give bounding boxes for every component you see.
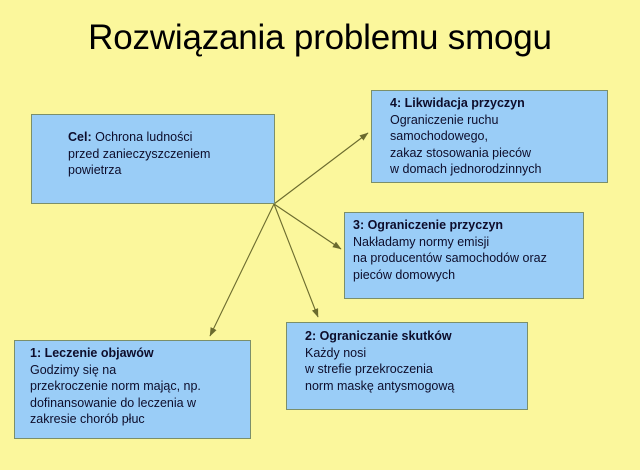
step-3-box[interactable]: 3: Ograniczenie przyczyn Nakładamy normy…: [344, 212, 584, 299]
goal-box-line-3: powietrza: [68, 162, 267, 179]
goal-box-line-2: przed zanieczyszczeniem: [68, 146, 267, 163]
step-2-line-2: w strefie przekroczenia: [305, 361, 520, 378]
step-2-heading: 2: Ograniczanie skutków: [305, 328, 520, 345]
arrow-to-box-2: [274, 204, 318, 317]
step-3-line-1: Nakładamy normy emisji: [353, 234, 576, 251]
step-4-line-2: samochodowego,: [390, 128, 600, 145]
step-4-content: 4: Likwidacja przyczyn Ograniczenie ruch…: [372, 91, 607, 182]
step-3-line-3: pieców domowych: [353, 267, 576, 284]
arrow-to-box-4: [274, 133, 368, 204]
slide-canvas: Rozwiązania problemu smogu Cel: Ochrona …: [0, 0, 640, 470]
page-title: Rozwiązania problemu smogu: [0, 18, 640, 58]
goal-box-content: Cel: Ochrona ludności przed zanieczyszcz…: [32, 115, 274, 183]
step-3-heading: 3: Ograniczenie przyczyn: [353, 217, 576, 234]
step-4-line-1: Ograniczenie ruchu: [390, 112, 600, 129]
step-2-box[interactable]: 2: Ograniczanie skutków Każdy nosi w str…: [286, 322, 528, 410]
step-1-line-1: Godzimy się na: [30, 362, 243, 379]
step-1-box[interactable]: 1: Leczenie objawów Godzimy się na przek…: [14, 340, 251, 439]
step-4-line-3: zakaz stosowania pieców: [390, 145, 600, 162]
step-4-heading: 4: Likwidacja przyczyn: [390, 95, 600, 112]
step-1-line-3: dofinansowanie do leczenia w: [30, 395, 243, 412]
step-4-box[interactable]: 4: Likwidacja przyczyn Ograniczenie ruch…: [371, 90, 608, 183]
step-2-line-3: norm maskę antysmogową: [305, 378, 520, 395]
goal-box-line-1: Cel: Ochrona ludności: [68, 129, 267, 146]
arrow-to-box-3: [274, 204, 341, 249]
step-2-line-1: Każdy nosi: [305, 345, 520, 362]
step-1-heading: 1: Leczenie objawów: [30, 345, 243, 362]
step-3-content: 3: Ograniczenie przyczyn Nakładamy normy…: [345, 213, 583, 287]
step-1-content: 1: Leczenie objawów Godzimy się na przek…: [15, 341, 250, 432]
step-2-content: 2: Ograniczanie skutków Każdy nosi w str…: [287, 323, 527, 398]
step-1-line-2: przekroczenie norm mając, np.: [30, 378, 243, 395]
goal-box-heading-rest: Ochrona ludności: [92, 130, 193, 144]
step-4-line-4: w domach jednorodzinnych: [390, 161, 600, 178]
step-1-line-4: zakresie chorób płuc: [30, 411, 243, 428]
goal-box-heading: Cel:: [68, 130, 92, 144]
step-3-line-2: na producentów samochodów oraz: [353, 250, 576, 267]
arrow-to-box-1: [210, 204, 274, 336]
goal-box[interactable]: Cel: Ochrona ludności przed zanieczyszcz…: [31, 114, 275, 204]
